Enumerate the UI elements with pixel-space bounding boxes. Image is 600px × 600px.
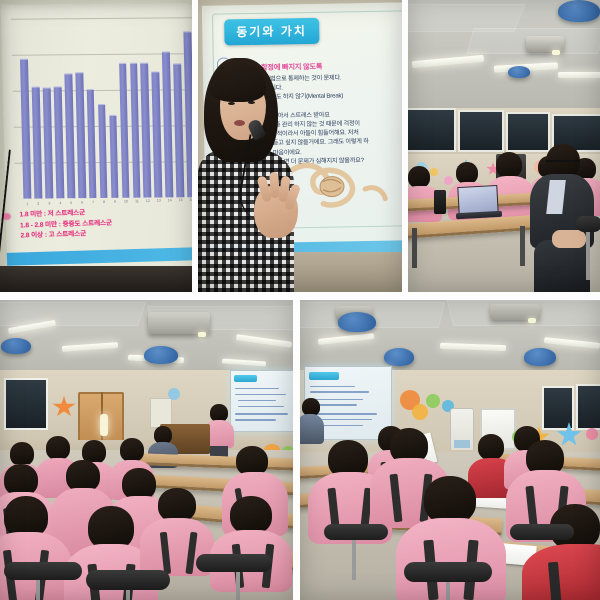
chair-back: [86, 570, 170, 590]
presenter-eye-right: [248, 101, 255, 104]
screen-slide-title-bar: [234, 375, 256, 382]
x-tick-1: 1: [23, 202, 31, 206]
chair-leg: [352, 540, 356, 580]
x-tick-6: 6: [78, 201, 86, 205]
panel-lecture-hall-screen: [300, 300, 600, 600]
speaker-box: [434, 190, 446, 214]
fan-cover-icon: [558, 0, 600, 22]
chair-back: [4, 562, 82, 580]
fluorescent-light: [558, 72, 600, 78]
presenter-figure: [198, 58, 294, 292]
ceiling-tile: [0, 302, 146, 326]
bar-13: [152, 71, 163, 197]
attendee-head: [478, 434, 504, 460]
fluorescent-light: [62, 342, 118, 352]
x-tick-5: 5: [67, 201, 75, 205]
bar-7: [86, 89, 96, 198]
slide-footer-bar: [7, 247, 192, 266]
x-tick-11: 11: [133, 199, 141, 203]
window: [408, 108, 456, 152]
attendee-head: [424, 476, 476, 524]
presenter-mouth: [234, 120, 245, 126]
bar-6: [75, 73, 86, 199]
classroom-scene: [300, 300, 600, 600]
window: [576, 384, 600, 430]
fan-cover-icon: [524, 348, 556, 366]
photo-collage: 12345678910111213141516 1.8 미만 : 저 스트레스군…: [0, 0, 600, 600]
x-tick-7: 7: [89, 200, 97, 204]
attendee: [0, 496, 66, 600]
ceiling-projector: [148, 312, 210, 334]
attendee-head: [120, 438, 144, 462]
x-tick-3: 3: [45, 201, 53, 205]
bar-14: [162, 51, 173, 197]
projection-screen: [230, 370, 293, 432]
chair-leg: [126, 590, 130, 600]
bar-11: [130, 63, 141, 198]
bar-8: [98, 104, 108, 198]
attendee: [216, 496, 284, 590]
screen-text-line: [235, 394, 286, 396]
attendee-red-jacket: [522, 544, 600, 600]
ceiling-projector: [526, 36, 564, 52]
ac-vent: [454, 440, 470, 448]
attendee-head: [46, 436, 70, 460]
x-tick-9: 9: [111, 200, 119, 204]
fluorescent-light: [440, 343, 506, 351]
chart-legend: 1.8 미만 : 저 스트레스군 1.8 - 2.8 미만 : 중증도 스트레스…: [19, 205, 188, 241]
bar-16: [184, 31, 192, 197]
fan-cover-icon: [384, 348, 414, 366]
x-tick-12: 12: [144, 199, 152, 203]
screen-text-line: [310, 386, 355, 388]
presenter-eye-left: [228, 102, 235, 105]
screen-text-line: [235, 413, 288, 415]
screen-text-line: [310, 391, 368, 393]
x-tick-8: 8: [100, 200, 108, 204]
attendee-hands: [552, 230, 586, 248]
ceiling: [408, 0, 600, 108]
chair-back: [404, 562, 492, 582]
fan-cover-icon: [144, 346, 178, 364]
fan-cover-icon: [338, 312, 376, 332]
window: [4, 378, 48, 430]
x-tick-15: 15: [177, 198, 185, 202]
screen-text-line: [235, 388, 279, 390]
fan-cover-icon: [1, 338, 31, 354]
wall-decal-circle: [412, 404, 428, 420]
bar-10: [119, 63, 130, 198]
desk-leg: [412, 228, 417, 268]
attendee-head: [456, 162, 478, 184]
fluorescent-light: [544, 337, 600, 349]
fan-cover-icon: [508, 66, 530, 78]
fluorescent-light: [222, 358, 266, 366]
x-tick-2: 2: [34, 202, 42, 206]
classroom-scene: [408, 0, 600, 292]
chair-leg: [236, 572, 240, 600]
screen-text-line: [238, 400, 276, 402]
chart-plot-area: [11, 11, 192, 199]
foreground-desk: [0, 266, 192, 292]
bar-4: [54, 86, 65, 199]
butterfly-wall-decal: [52, 396, 76, 418]
attendee-uniform: [396, 518, 506, 600]
attendee-head: [230, 496, 272, 534]
chair-back: [324, 524, 388, 540]
chair-back: [196, 554, 272, 572]
bar-15: [174, 64, 185, 198]
panel-stress-chart-slide: 12345678910111213141516 1.8 미만 : 저 스트레스군…: [0, 0, 192, 292]
slide-title: 동기와 가치: [224, 18, 319, 46]
projected-chart-slide: 12345678910111213141516 1.8 미만 : 저 스트레스군…: [1, 3, 192, 277]
x-tick-13: 13: [155, 199, 163, 203]
panel-classroom-side: [408, 0, 600, 292]
wall-decal-circle: [426, 394, 440, 408]
screen-text-line: [235, 419, 276, 421]
chair-leg: [446, 582, 450, 600]
bar-9: [109, 114, 119, 198]
attendee-head: [10, 442, 34, 466]
attendee-in-red: [528, 504, 600, 600]
screen-text-line: [238, 406, 284, 408]
wall-decal-circle: [168, 388, 180, 400]
classroom-scene: [0, 300, 293, 600]
x-tick-4: 4: [56, 201, 64, 205]
bar-12: [141, 63, 152, 198]
eyeglasses-icon: [546, 160, 580, 172]
bar-series: [19, 15, 192, 198]
wall-decal-circle: [586, 428, 598, 440]
panel-presenter: 동기와 가치 생각의 함정에 빠지지 않도록 마음을 잘못된 방법으로 통제하는…: [198, 0, 402, 292]
bar-2: [32, 87, 43, 199]
desk-leg: [520, 226, 525, 266]
chair-back: [510, 524, 574, 540]
window: [458, 110, 504, 152]
attendee-head: [496, 152, 522, 178]
chair-leg: [36, 580, 40, 600]
ceiling: [300, 300, 600, 372]
bar-5: [64, 73, 75, 198]
chair-back: [576, 216, 600, 232]
x-tick-14: 14: [166, 198, 174, 202]
screen-slide-title-bar: [309, 372, 338, 380]
x-tick-10: 10: [122, 199, 130, 203]
ceiling-projector: [490, 304, 540, 320]
chair-leg: [586, 232, 590, 280]
ceiling: [0, 300, 293, 372]
fluorescent-light: [412, 55, 484, 68]
fluorescent-light: [236, 334, 292, 348]
attendee-head: [408, 166, 430, 188]
hanging-lamp: [100, 414, 108, 436]
x-tick-16: 16: [188, 198, 192, 202]
bar-3: [43, 88, 53, 199]
attendee-head: [158, 488, 196, 522]
fluorescent-light: [318, 333, 374, 345]
panel-lecture-hall-rear: [0, 300, 293, 600]
x-axis-tick-labels: 12345678910111213141516: [23, 198, 192, 206]
